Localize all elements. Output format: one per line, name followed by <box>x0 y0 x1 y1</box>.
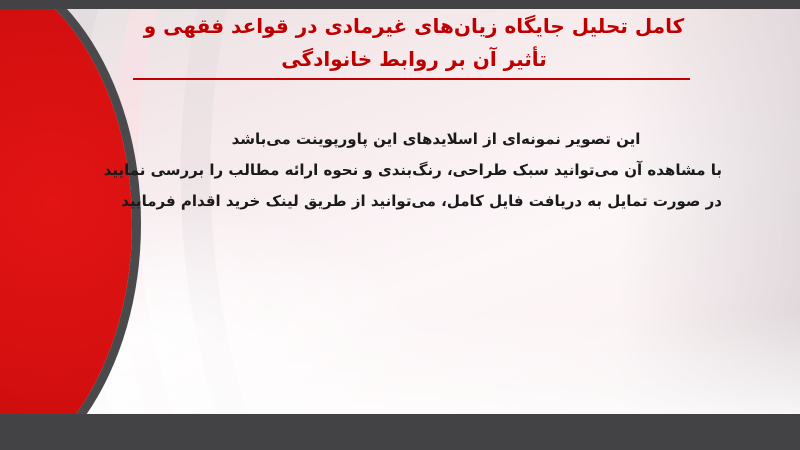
lens-bottom-mask <box>0 414 150 450</box>
slide-title-line-1: کامل تحلیل جایگاه زیان‌های غیرمادی در قو… <box>120 10 708 43</box>
lens-top-mask <box>0 0 150 9</box>
slide-title: کامل تحلیل جایگاه زیان‌های غیرمادی در قو… <box>120 10 708 76</box>
title-underline <box>133 78 690 80</box>
presentation-slide: کامل تحلیل جایگاه زیان‌های غیرمادی در قو… <box>0 0 800 450</box>
slide-body-text: این تصویر نمونه‌ای از اسلایدهای این پاور… <box>150 124 722 217</box>
body-line-1: این تصویر نمونه‌ای از اسلایدهای این پاور… <box>150 124 722 155</box>
slide-title-line-2: تأثیر آن بر روابط خانوادگی <box>120 43 708 76</box>
body-line-2: با مشاهده آن می‌توانید سبک طراحی، رنگ‌بن… <box>150 155 722 186</box>
body-line-3: در صورت تمایل به دریافت فایل کامل، می‌تو… <box>150 186 722 217</box>
